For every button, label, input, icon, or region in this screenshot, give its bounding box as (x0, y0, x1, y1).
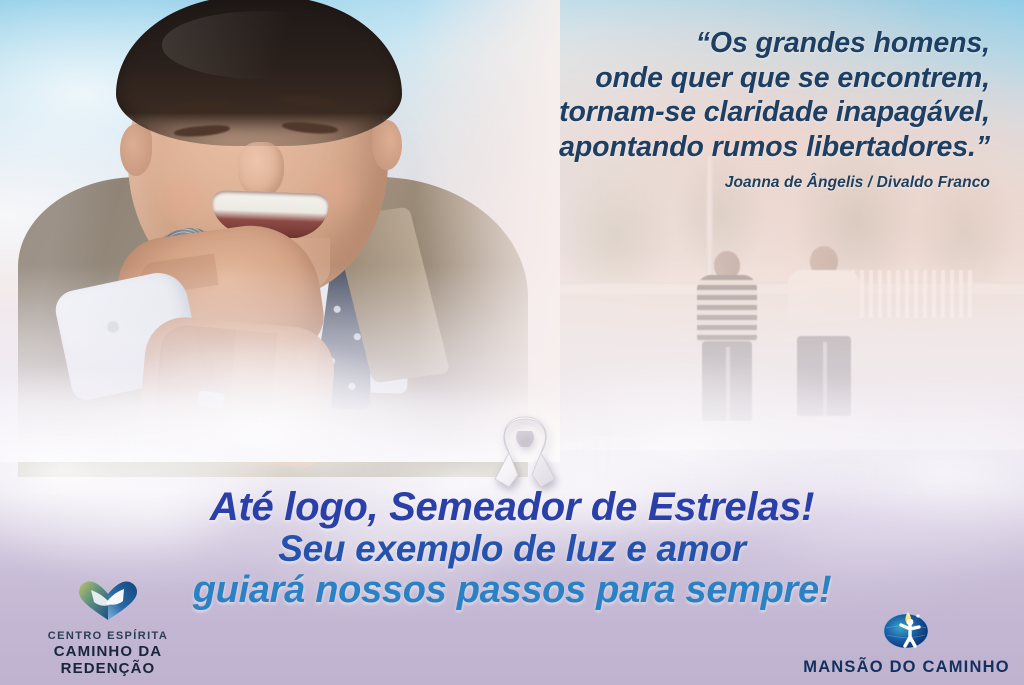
quote-attribution: Joanna de Ângelis / Divaldo Franco (350, 174, 990, 192)
white-awareness-ribbon-icon (487, 409, 563, 491)
portrait-ear-left (120, 124, 152, 176)
quote-block: “Os grandes homens, onde quer que se enc… (350, 26, 990, 192)
logo-left-line-2: CAMINHO DA REDENÇÃO (8, 643, 208, 677)
quote-line-3: tornam-se claridade inapagável, (350, 95, 990, 130)
logo-left-line-1: CENTRO ESPÍRITA (8, 630, 208, 643)
headline-line-2: Seu exemplo de luz e amor (0, 528, 1024, 569)
quote-line-4: apontando rumos libertadores.” (350, 130, 990, 165)
globe-figure-flame-icon (799, 606, 1014, 655)
logo-right-line-1: MANSÃO DO CAMINHO (799, 658, 1014, 677)
heart-hands-icon (8, 580, 208, 627)
quote-line-1: “Os grandes homens, (350, 26, 990, 61)
portrait-nose (238, 142, 284, 198)
memorial-poster: “Os grandes homens, onde quer que se enc… (0, 0, 1024, 685)
portrait-cheek-left (152, 168, 214, 228)
headline-line-1: Até logo, Semeador de Estrelas! (0, 486, 1024, 528)
quote-line-2: onde quer que se encontrem, (350, 61, 990, 96)
logo-mansao-do-caminho: MANSÃO DO CAMINHO (799, 606, 1014, 677)
logo-centro-espirita-caminho-da-redencao: CENTRO ESPÍRITA CAMINHO DA REDENÇÃO (8, 580, 208, 677)
